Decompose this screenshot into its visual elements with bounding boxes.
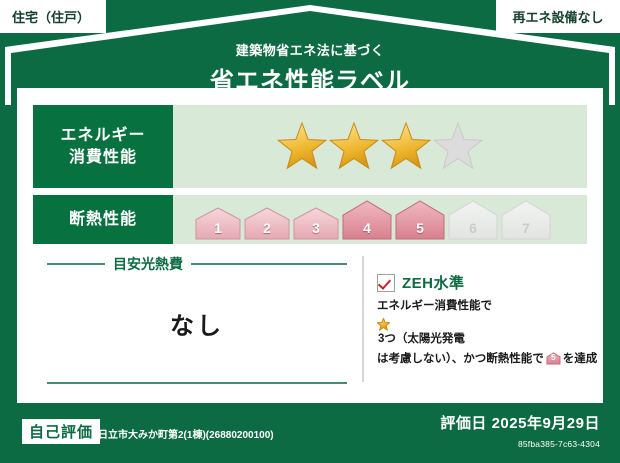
zeh-checkbox-checked-icon <box>377 274 395 292</box>
insulation-level-1: 1 <box>195 207 241 240</box>
insulation-level-7: 7 <box>501 200 551 240</box>
utility-cost-bottom-rule <box>47 382 347 384</box>
renewable-equipment-text: 再エネ設備なし <box>512 7 603 26</box>
energy-performance-row: エネルギー 消費性能 <box>33 105 587 188</box>
evaluation-date-value: 2025年9月29日 <box>492 415 600 432</box>
label-body-panel: エネルギー 消費性能 断熱性能 1234567 目安光熱費 なし <box>17 88 603 403</box>
inline-star-icon <box>377 318 602 331</box>
heading-rule-right <box>191 263 347 265</box>
evaluation-date-label: 評価日 <box>440 415 487 432</box>
zeh-desc-part3: を達成 <box>563 353 598 365</box>
energy-performance-label: 住宅（住戸） 再エネ設備なし 建築物省エネ法に基づく 省エネ性能ラベル エネルギ… <box>0 0 620 463</box>
zeh-title: ZEH水準 <box>402 272 465 293</box>
insulation-level-6: 6 <box>448 200 498 240</box>
label-title: 省エネ性能ラベル <box>0 61 620 96</box>
energy-performance-label-cell: エネルギー 消費性能 <box>33 105 173 188</box>
zeh-block: ZEH水準 エネルギー消費性能で3つ（太陽光発電 は考慮しない）、かつ断熱性能で… <box>377 272 602 371</box>
label-footer: 自己評価 日立市大みか町第2(1棟)(26880200100) 評価日 2025… <box>0 403 620 463</box>
property-address: 日立市大みか町第2(1棟)(26880200100) <box>98 426 274 441</box>
section-divider <box>362 256 364 382</box>
zeh-desc-star-count: 3つ（太陽光発電 <box>378 333 465 345</box>
building-type-tag: 住宅（住戸） <box>0 0 106 33</box>
insulation-performance-label-cell: 断熱性能 <box>33 195 173 244</box>
evaluation-type-badge: 自己評価 <box>22 419 100 444</box>
utility-cost-value: なし <box>47 306 347 341</box>
utility-cost-heading: 目安光熱費 <box>113 254 183 274</box>
zeh-desc-part2: は考慮しない）、かつ断熱性能で <box>377 353 544 365</box>
energy-stars-cell <box>173 105 587 188</box>
zeh-heading-row: ZEH水準 <box>377 272 602 293</box>
insulation-level-3: 3 <box>293 207 339 240</box>
inline-house-level-icon: 5 <box>546 356 561 368</box>
heading-rule-left <box>47 263 105 265</box>
energy-label-line2: 消費性能 <box>69 147 137 169</box>
building-type-text: 住宅（住戸） <box>12 7 90 26</box>
insulation-level-5: 5 <box>395 200 445 240</box>
insulation-performance-row: 断熱性能 1234567 <box>33 195 587 244</box>
insulation-levels-cell: 1234567 <box>173 195 587 244</box>
renewable-equipment-tag: 再エネ設備なし <box>496 0 620 33</box>
zeh-desc-part1: エネルギー消費性能で <box>377 300 492 312</box>
insulation-level-2: 2 <box>244 207 290 240</box>
label-subtitle: 建築物省エネ法に基づく <box>0 40 620 59</box>
zeh-description: エネルギー消費性能で3つ（太陽光発電 は考慮しない）、かつ断熱性能で5を達成 <box>377 298 602 371</box>
insulation-level-4: 4 <box>342 200 392 240</box>
insulation-level-scale: 1234567 <box>195 200 551 240</box>
insulation-label: 断熱性能 <box>69 209 137 231</box>
star-rating <box>277 122 483 172</box>
label-title-group: 建築物省エネ法に基づく 省エネ性能ラベル <box>0 40 620 96</box>
label-hash-id: 85fba385-7c63-4304 <box>518 439 600 449</box>
utility-cost-heading-row: 目安光熱費 <box>47 254 347 274</box>
evaluation-date: 評価日 2025年9月29日 <box>440 412 600 433</box>
utility-cost-block: 目安光熱費 なし <box>47 254 347 384</box>
energy-label-line1: エネルギー <box>60 125 145 147</box>
